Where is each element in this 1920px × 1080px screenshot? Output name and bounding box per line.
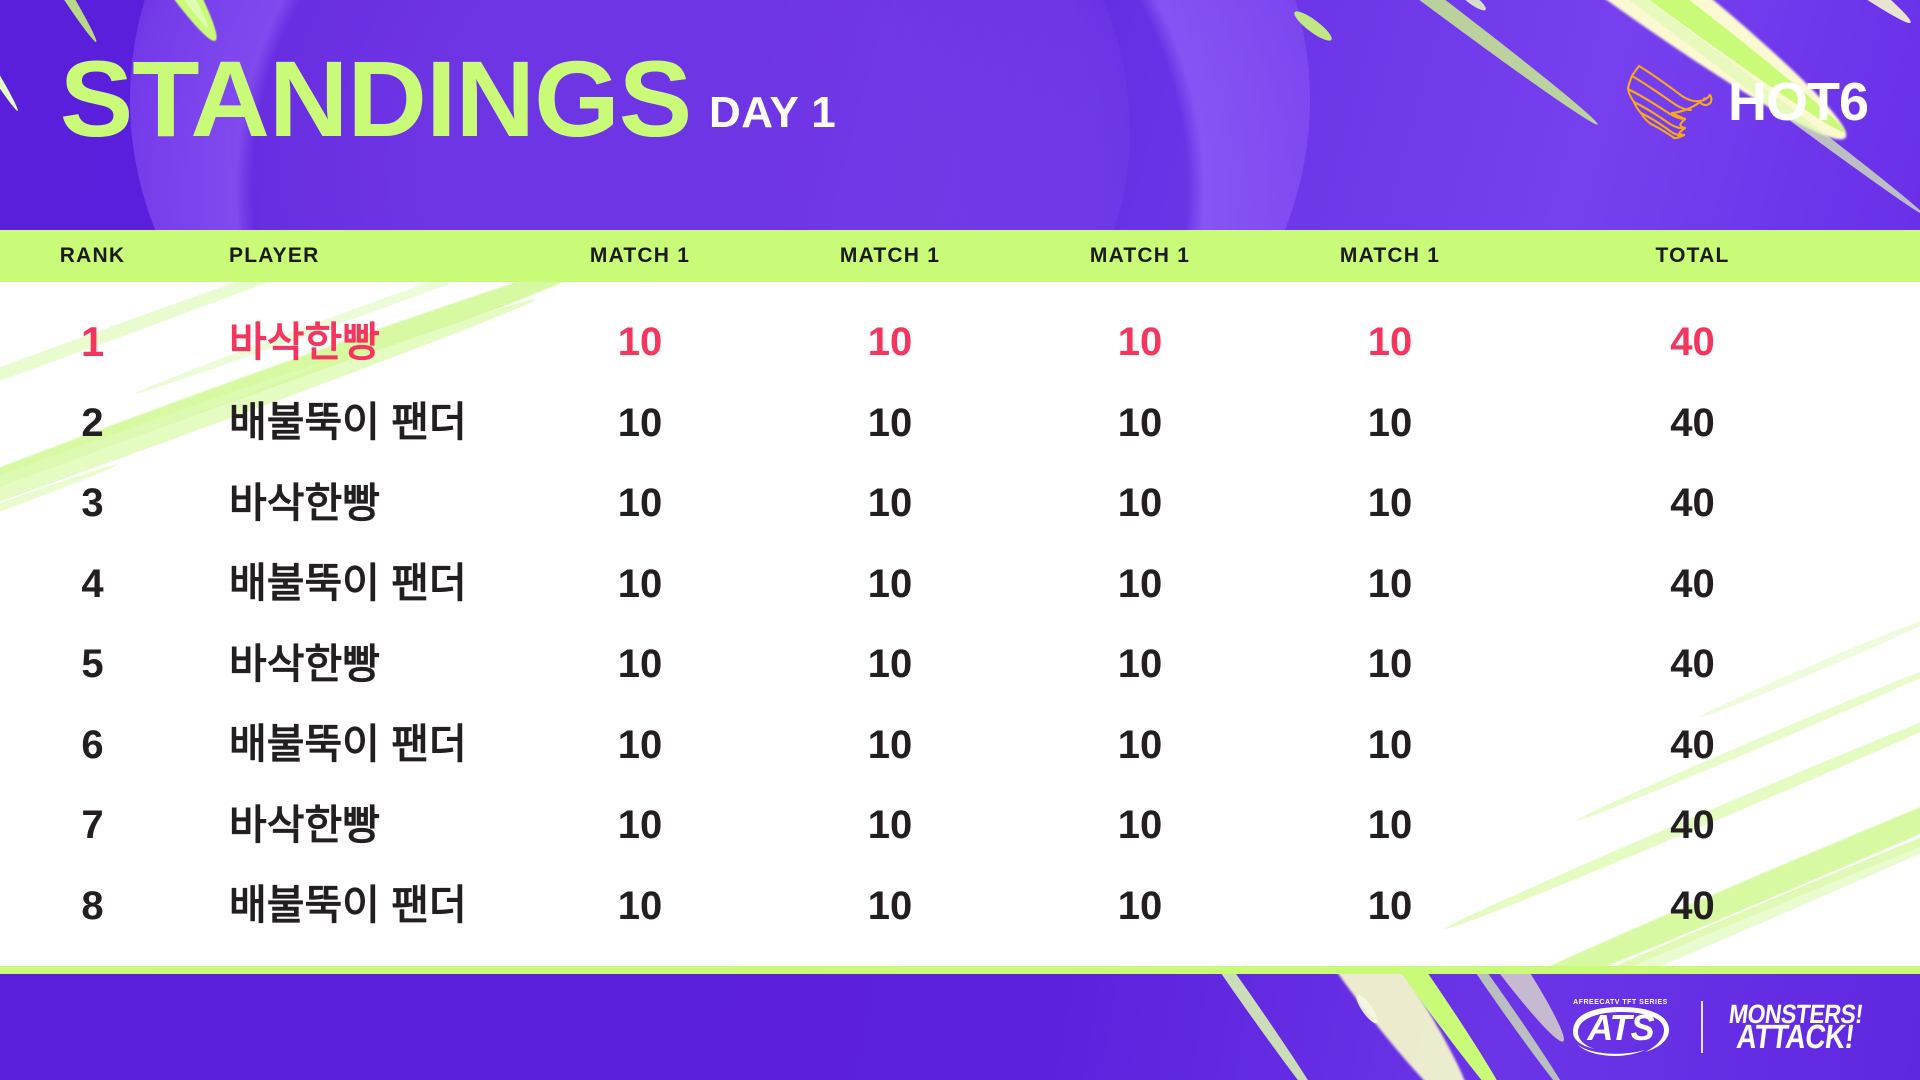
cell-player: 배불뚝이 팬더 — [185, 885, 515, 926]
cell-match-4: 10 — [1265, 322, 1515, 362]
cell-rank: 5 — [0, 644, 185, 684]
cell-player: 바삭한빵 — [185, 483, 515, 524]
cell-match-4: 10 — [1265, 644, 1515, 684]
cell-match-2: 10 — [765, 725, 1015, 765]
cell-total: 40 — [1515, 564, 1870, 604]
footer-divider — [1701, 1001, 1703, 1053]
table-header-row: RANK PLAYER MATCH 1 MATCH 1 MATCH 1 MATC… — [0, 230, 1920, 282]
column-header-match-4: MATCH 1 — [1265, 244, 1515, 268]
day-label: DAY 1 — [709, 88, 836, 152]
cell-total: 40 — [1515, 483, 1870, 523]
column-header-match-1: MATCH 1 — [515, 244, 765, 268]
cell-match-2: 10 — [765, 805, 1015, 845]
cell-match-2: 10 — [765, 403, 1015, 443]
cell-player: 바삭한빵 — [185, 322, 515, 363]
cell-match-2: 10 — [765, 886, 1015, 926]
cell-match-3: 10 — [1015, 322, 1265, 362]
brush-stroke-decor — [1149, 974, 1331, 1080]
cell-match-2: 10 — [765, 564, 1015, 604]
cell-match-4: 10 — [1265, 886, 1515, 926]
cell-match-4: 10 — [1265, 403, 1515, 443]
standings-table-body: 1바삭한빵10101010402배불뚝이 팬더10101010403바삭한빵10… — [0, 282, 1920, 970]
cell-rank: 2 — [0, 403, 185, 443]
table-row[interactable]: 2배불뚝이 팬더1010101040 — [0, 383, 1920, 464]
cell-match-1: 10 — [515, 886, 765, 926]
cell-rank: 8 — [0, 886, 185, 926]
cell-match-1: 10 — [515, 805, 765, 845]
sponsor-name: HOT6 — [1728, 75, 1868, 129]
cell-rank: 1 — [0, 321, 185, 363]
ats-logo: AFREECATV TFT SERIES ATS — [1567, 999, 1675, 1056]
cell-match-1: 10 — [515, 403, 765, 443]
cell-rank: 4 — [0, 564, 185, 604]
cell-rank: 6 — [0, 725, 185, 765]
cell-match-3: 10 — [1015, 403, 1265, 443]
cell-match-4: 10 — [1265, 483, 1515, 523]
cell-player: 배불뚝이 팬더 — [185, 724, 515, 765]
cell-total: 40 — [1515, 886, 1870, 926]
cell-match-1: 10 — [515, 644, 765, 684]
cell-match-3: 10 — [1015, 483, 1265, 523]
cell-total: 40 — [1515, 644, 1870, 684]
cell-match-4: 10 — [1265, 725, 1515, 765]
cell-match-3: 10 — [1015, 644, 1265, 684]
cell-total: 40 — [1515, 725, 1870, 765]
cell-match-3: 10 — [1015, 725, 1265, 765]
cell-player: 배불뚝이 팬더 — [185, 402, 515, 443]
column-header-match-2: MATCH 1 — [765, 244, 1015, 268]
table-row[interactable]: 6배불뚝이 팬더1010101040 — [0, 705, 1920, 786]
banner-title-group: STANDINGS DAY 1 — [66, 46, 836, 152]
cell-match-3: 10 — [1015, 886, 1265, 926]
cell-match-3: 10 — [1015, 805, 1265, 845]
cell-match-4: 10 — [1265, 564, 1515, 604]
ats-logo-name: ATS — [1567, 1010, 1675, 1046]
monsters-attack-icon: MONSTERS! ATTACK! — [1729, 1005, 1863, 1049]
standings-rows: 1바삭한빵10101010402배불뚝이 팬더10101010403바삭한빵10… — [0, 282, 1920, 946]
event-logo-line-2: ATTACK! — [1735, 1022, 1855, 1051]
cell-total: 40 — [1515, 403, 1870, 443]
standings-poster: STANDINGS DAY 1 — [0, 0, 1920, 1080]
column-header-match-3: MATCH 1 — [1015, 244, 1265, 268]
table-row[interactable]: 7바삭한빵1010101040 — [0, 785, 1920, 866]
table-row[interactable]: 4배불뚝이 팬더1010101040 — [0, 544, 1920, 625]
cell-match-1: 10 — [515, 564, 765, 604]
cell-match-3: 10 — [1015, 564, 1265, 604]
cell-player: 배불뚝이 팬더 — [185, 563, 515, 604]
column-header-rank: RANK — [0, 244, 185, 268]
footer-logo-group: AFREECATV TFT SERIES ATS MONSTERS! ATTAC… — [1567, 974, 1863, 1080]
table-row[interactable]: 3바삭한빵1010101040 — [0, 463, 1920, 544]
column-header-total: TOTAL — [1515, 244, 1870, 268]
table-row[interactable]: 1바삭한빵1010101040 — [0, 302, 1920, 383]
cell-match-2: 10 — [765, 644, 1015, 684]
header-banner: STANDINGS DAY 1 — [0, 0, 1920, 230]
cell-rank: 7 — [0, 805, 185, 845]
cell-player: 바삭한빵 — [185, 644, 515, 685]
cell-match-1: 10 — [515, 725, 765, 765]
footer-bar: AFREECATV TFT SERIES ATS MONSTERS! ATTAC… — [0, 974, 1920, 1080]
phoenix-bird-icon — [1618, 56, 1722, 147]
cell-match-2: 10 — [765, 483, 1015, 523]
cell-match-1: 10 — [515, 322, 765, 362]
cell-total: 40 — [1515, 805, 1870, 845]
cell-rank: 3 — [0, 483, 185, 523]
cell-total: 40 — [1515, 322, 1870, 362]
cell-player: 바삭한빵 — [185, 805, 515, 846]
brush-stroke-decor — [0, 0, 22, 113]
sponsor-logo: HOT6 — [1618, 56, 1868, 147]
page-title: STANDINGS — [60, 46, 691, 152]
table-row[interactable]: 5바삭한빵1010101040 — [0, 624, 1920, 705]
cell-match-4: 10 — [1265, 805, 1515, 845]
cell-match-2: 10 — [765, 322, 1015, 362]
cell-match-1: 10 — [515, 483, 765, 523]
table-row[interactable]: 8배불뚝이 팬더1010101040 — [0, 866, 1920, 947]
footer-accent-line — [0, 966, 1920, 974]
column-header-player: PLAYER — [185, 244, 515, 268]
